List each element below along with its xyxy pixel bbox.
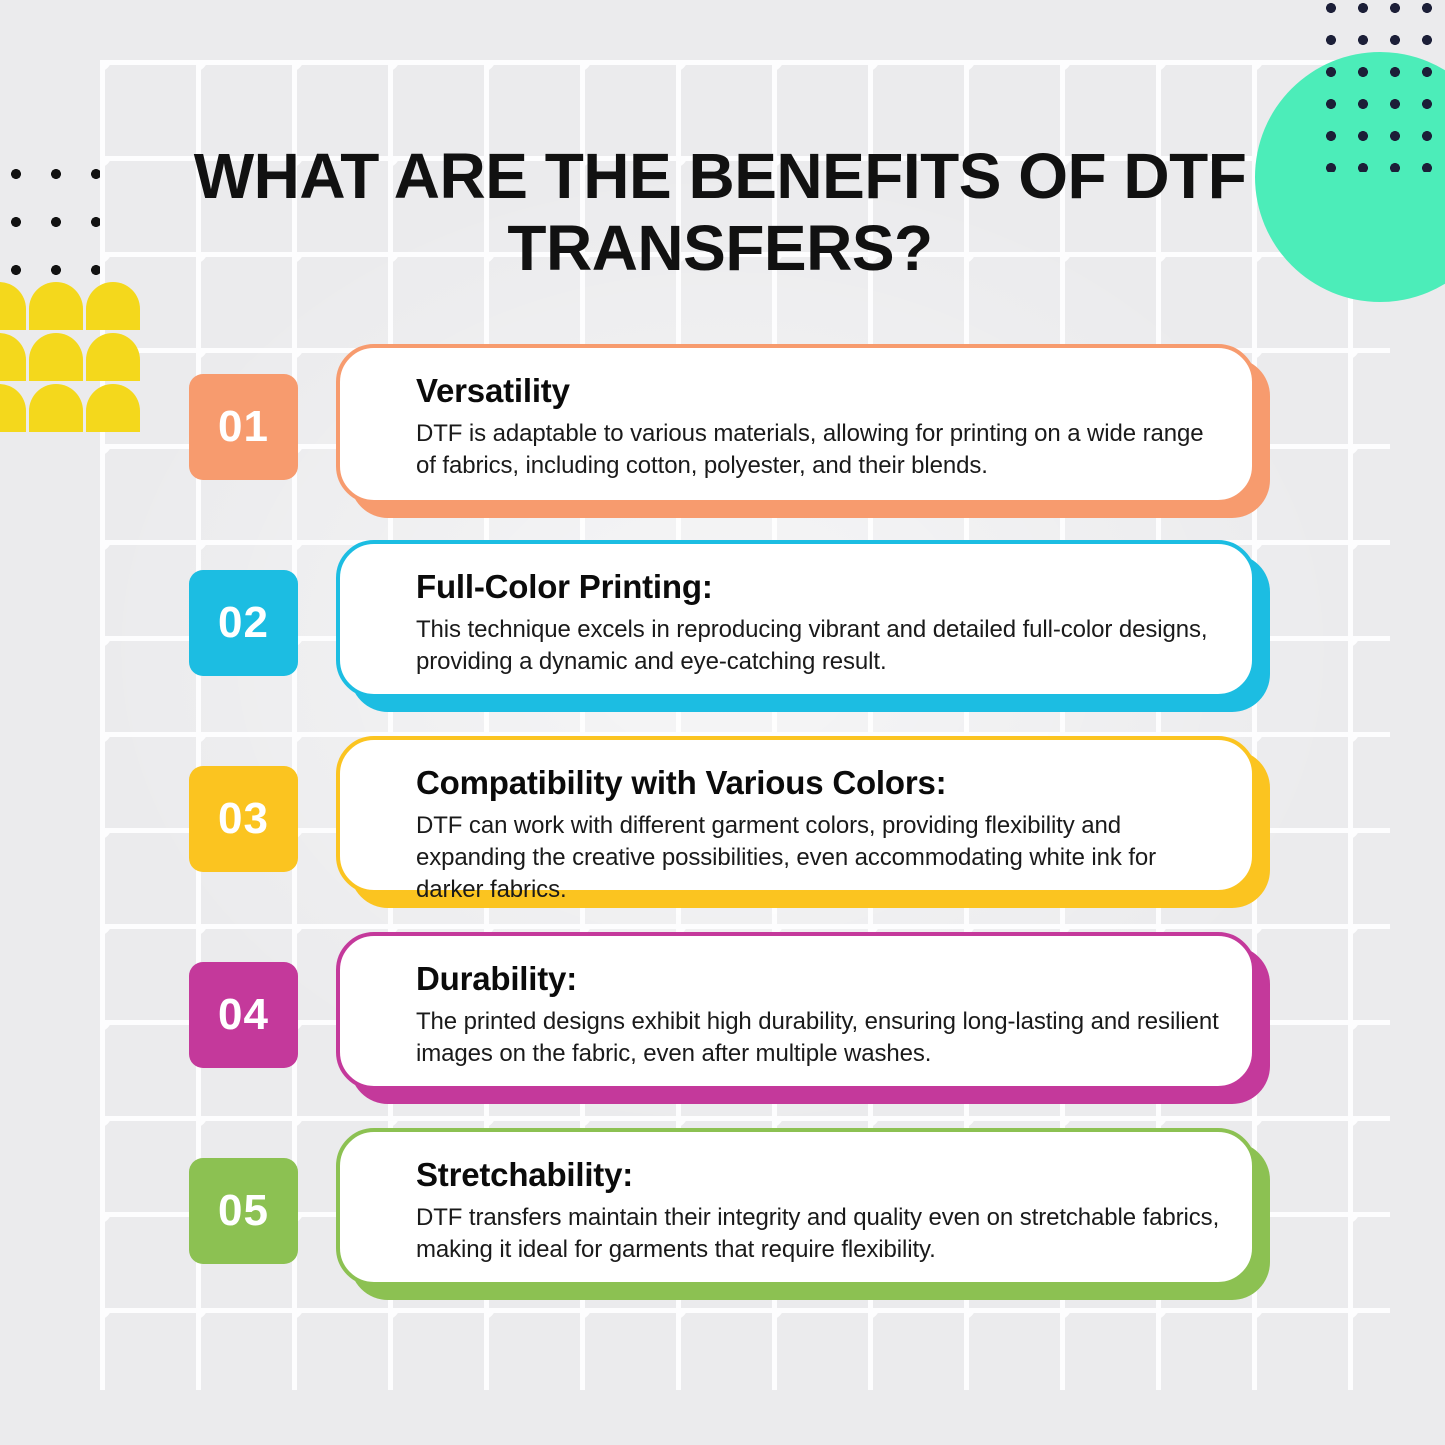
item-number-badge: 05 [189, 1158, 298, 1264]
benefits-list: 01 Versatility DTF is adaptable to vario… [0, 344, 1445, 1324]
benefit-body: DTF can work with different garment colo… [416, 810, 1222, 906]
benefit-card: Stretchability: DTF transfers maintain t… [336, 1128, 1256, 1286]
item-number-badge: 01 [189, 374, 298, 480]
benefit-body: DTF transfers maintain their integrity a… [416, 1202, 1222, 1266]
benefit-card: Versatility DTF is adaptable to various … [336, 344, 1256, 504]
benefit-body: DTF is adaptable to various materials, a… [416, 418, 1222, 482]
infographic-canvas: WHAT ARE THE BENEFITS OF DTF TRANSFERS? … [0, 0, 1445, 1445]
item-number-badge: 04 [189, 962, 298, 1068]
dot-grid-top-right-icon [1325, 2, 1445, 172]
benefit-card: Durability: The printed designs exhibit … [336, 932, 1256, 1090]
list-item: 04 Durability: The printed designs exhib… [0, 932, 1445, 1128]
benefit-body: This technique excels in reproducing vib… [416, 614, 1222, 678]
page-title: WHAT ARE THE BENEFITS OF DTF TRANSFERS? [140, 140, 1300, 284]
benefit-heading: Durability: [416, 958, 1222, 1000]
semicircle-icon [29, 282, 83, 330]
item-number-badge: 03 [189, 766, 298, 872]
list-item: 03 Compatibility with Various Colors: DT… [0, 736, 1445, 932]
list-item: 02 Full-Color Printing: This technique e… [0, 540, 1445, 736]
list-item: 05 Stretchability: DTF transfers maintai… [0, 1128, 1445, 1324]
benefit-card: Full-Color Printing: This technique exce… [336, 540, 1256, 698]
benefit-heading: Versatility [416, 370, 1222, 412]
benefit-heading: Full-Color Printing: [416, 566, 1222, 608]
semicircle-icon [86, 282, 140, 330]
semicircle-row [0, 282, 152, 330]
benefit-heading: Compatibility with Various Colors: [416, 762, 1222, 804]
list-item: 01 Versatility DTF is adaptable to vario… [0, 344, 1445, 540]
item-number-badge: 02 [189, 570, 298, 676]
benefit-card: Compatibility with Various Colors: DTF c… [336, 736, 1256, 894]
semicircle-icon [0, 282, 26, 330]
benefit-body: The printed designs exhibit high durabil… [416, 1006, 1222, 1070]
benefit-heading: Stretchability: [416, 1154, 1222, 1196]
